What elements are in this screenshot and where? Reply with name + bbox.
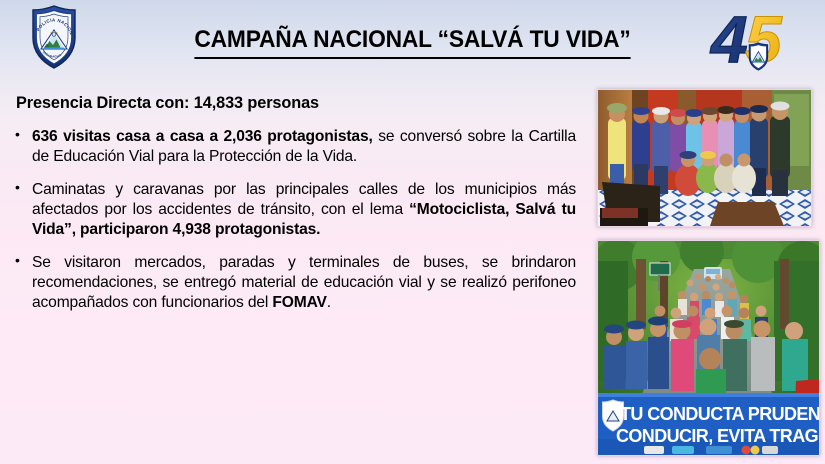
slide-canvas: POLICIA NACIONAL NICARAGUA CAMPAÑA NACIO… [0, 0, 825, 464]
photo-caminata-masiva: TU CONDUCTA PRUDENTE AL CONDUCIR, EVITA … [597, 240, 820, 456]
slide-header: POLICIA NACIONAL NICARAGUA CAMPAÑA NACIO… [0, 0, 825, 84]
svg-text:4: 4 [709, 4, 748, 76]
bullet-caminatas-caravanas: Caminatas y caravanas por las principale… [14, 180, 576, 240]
banner-line-2: CONDUCIR, EVITA TRAGEDIAS [616, 426, 819, 446]
lead-statement: Presencia Directa con: 14,833 personas [16, 94, 576, 114]
banner-line-1: TU CONDUCTA PRUDENTE AL [620, 404, 819, 424]
bullet-mercados-terminales: Se visitaron mercados, paradas y termina… [14, 253, 576, 313]
photo-grupo-comunitario [597, 89, 812, 227]
page-title: CAMPAÑA NACIONAL “SALVÁ TU VIDA” [29, 26, 796, 59]
slide-body: Presencia Directa con: 14,833 personas 6… [14, 94, 576, 326]
45-anniversary-logo: 4 5 [709, 4, 809, 76]
bullet-list: 636 visitas casa a casa a 2,036 protagon… [14, 127, 576, 313]
bullet-visitas-casa-a-casa: 636 visitas casa a casa a 2,036 protagon… [14, 127, 576, 167]
page-title-text: CAMPAÑA NACIONAL “SALVÁ TU VIDA” [194, 26, 630, 59]
